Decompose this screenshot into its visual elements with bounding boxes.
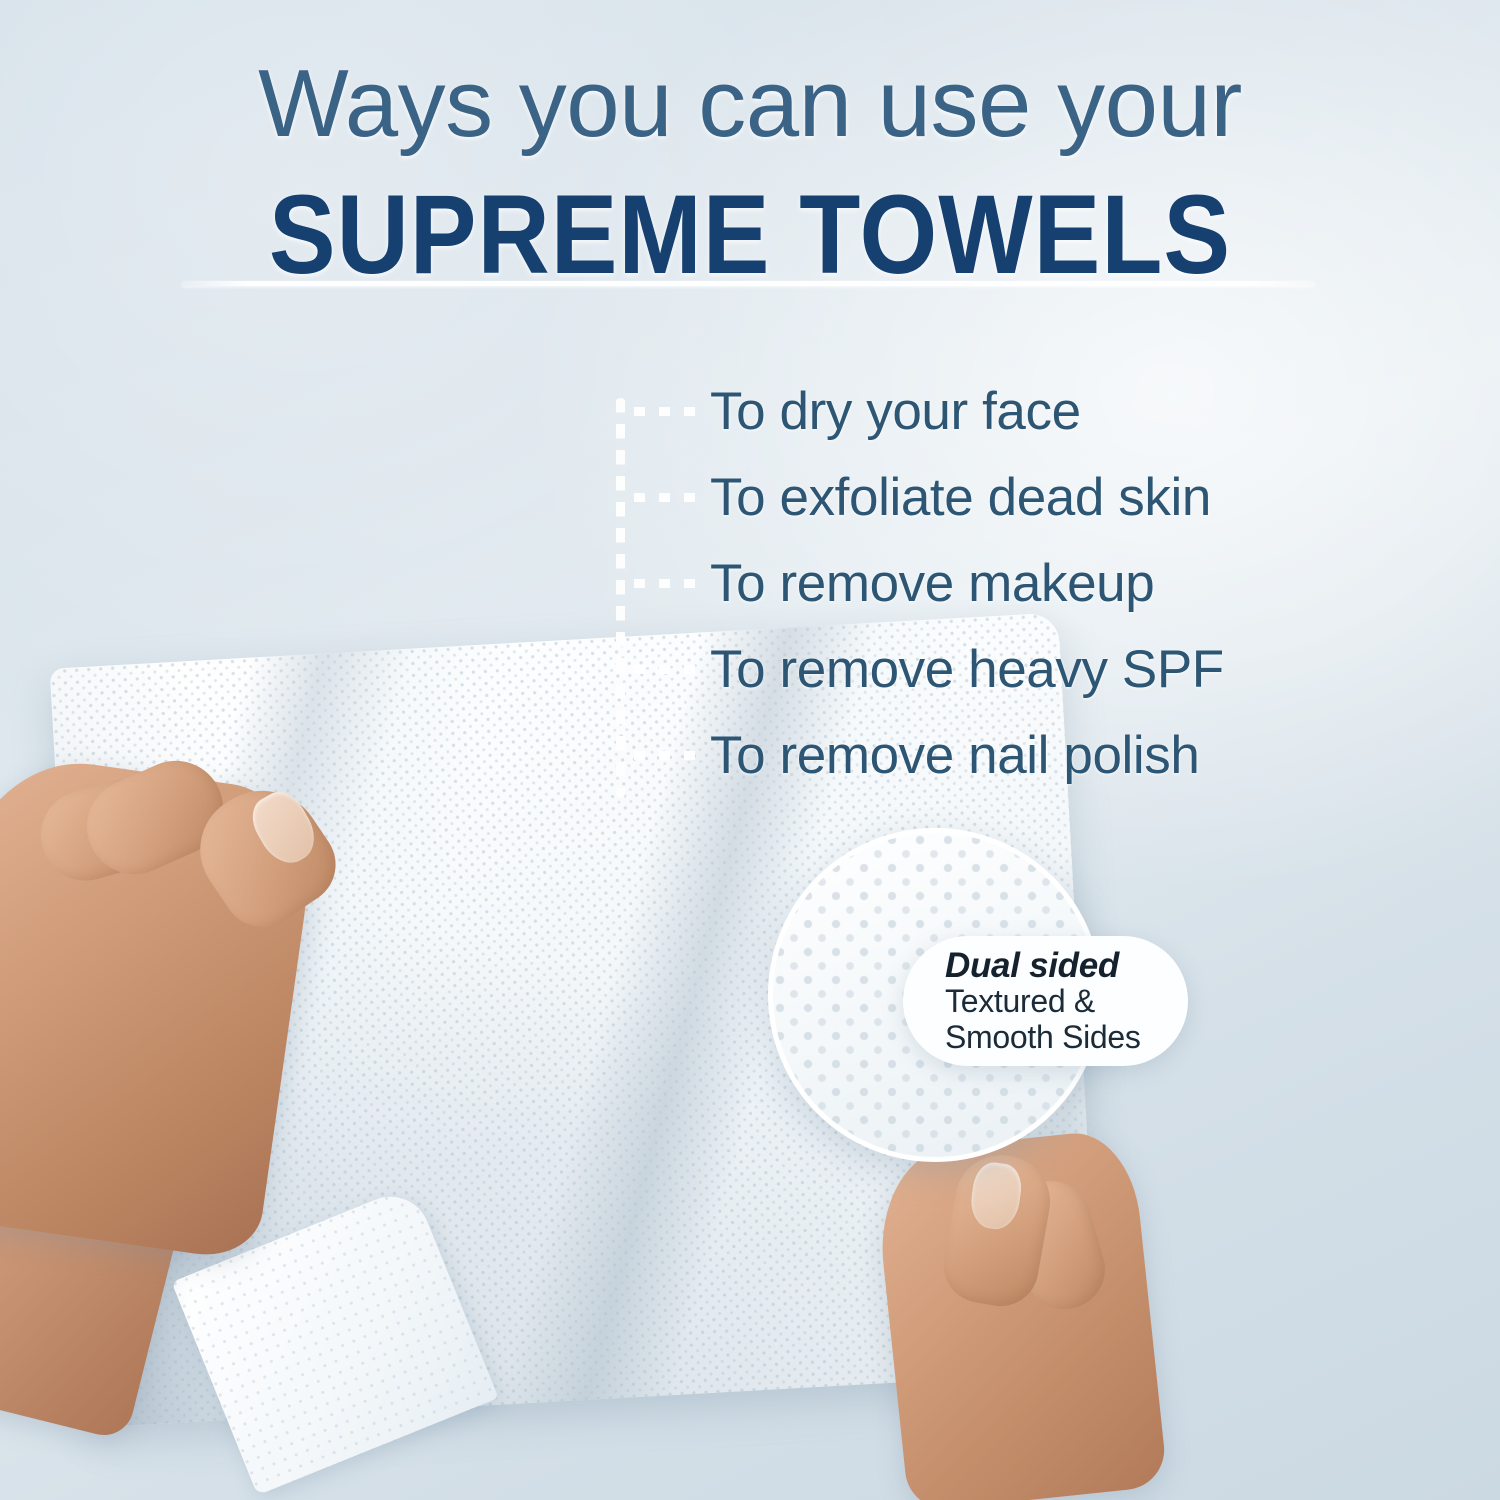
list-item: To exfoliate dead skin bbox=[616, 454, 1376, 540]
headline-divider-rule bbox=[182, 281, 1315, 286]
list-item: To dry your face bbox=[616, 368, 1376, 454]
dotted-connector-icon bbox=[634, 579, 700, 588]
dotted-connector-icon bbox=[634, 407, 700, 416]
badge-line-2: Smooth Sides bbox=[945, 1020, 1162, 1055]
product-feature-poster: Ways you can use your SUPREME TOWELS Dua… bbox=[0, 0, 1500, 1500]
list-item: To remove heavy SPF bbox=[616, 626, 1376, 712]
badge-line-1: Textured & bbox=[945, 984, 1162, 1019]
headline-line-1: Ways you can use your bbox=[0, 0, 1500, 152]
list-item: To remove nail polish bbox=[616, 712, 1376, 798]
headline-line-2: SUPREME TOWELS bbox=[0, 152, 1500, 291]
benefit-label: To dry your face bbox=[710, 385, 1081, 438]
dual-sided-badge: Dual sided Textured & Smooth Sides bbox=[903, 936, 1188, 1066]
headline-block: Ways you can use your SUPREME TOWELS bbox=[0, 0, 1500, 276]
benefit-label: To remove makeup bbox=[710, 557, 1154, 610]
benefit-label: To remove nail polish bbox=[710, 729, 1199, 782]
benefit-label: To exfoliate dead skin bbox=[710, 471, 1211, 524]
dotted-connector-icon bbox=[634, 665, 700, 674]
benefit-label: To remove heavy SPF bbox=[710, 643, 1224, 696]
dotted-connector-icon bbox=[634, 493, 700, 502]
list-item: To remove makeup bbox=[616, 540, 1376, 626]
benefits-list: To dry your face To exfoliate dead skin … bbox=[616, 368, 1376, 798]
dotted-connector-icon bbox=[634, 751, 700, 760]
badge-title: Dual sided bbox=[945, 947, 1162, 984]
